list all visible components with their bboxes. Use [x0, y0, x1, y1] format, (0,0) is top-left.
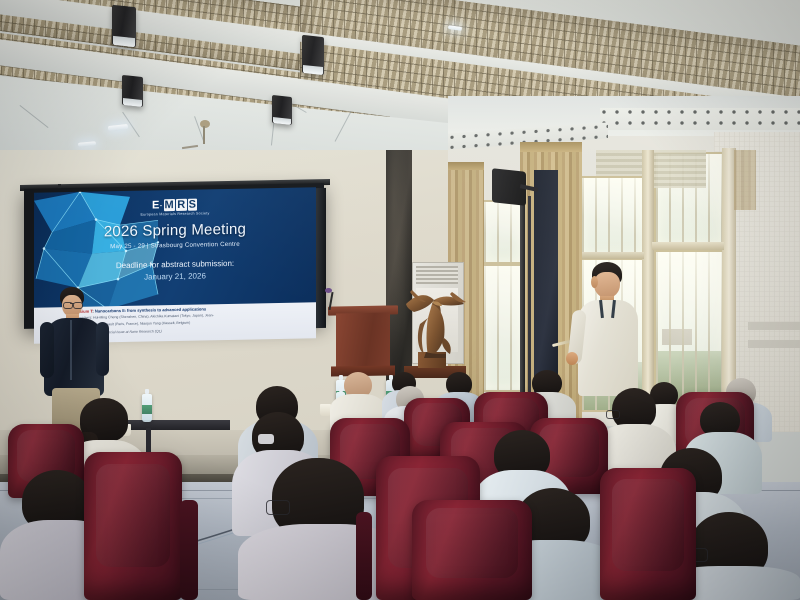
presenter-left-glasses-bridge [70, 303, 74, 304]
seat-armrest [180, 500, 198, 600]
downlight-1 [112, 5, 136, 48]
curtain-rod-left [448, 162, 484, 170]
sprinkler-pipe [203, 126, 205, 144]
presenter-right-face [594, 272, 620, 298]
presenter-left-shirt-placket [70, 320, 72, 380]
presenter-left-arm-right [96, 322, 109, 376]
downlight-4 [272, 95, 292, 125]
presenter-left-glasses [73, 302, 83, 309]
window-far-left [482, 200, 524, 264]
microphone-head [325, 288, 332, 293]
journal-line: Special issue at Nano Research (Q1) [104, 329, 162, 334]
window-far-left-lower [482, 264, 524, 392]
window-mullion-1 [642, 150, 654, 412]
organizers-line-1: Organizers: Hui-Ming Cheng (Shenzhen, Ch… [74, 313, 214, 320]
presenter-left-arm-left [40, 322, 54, 378]
audience-glasses [266, 500, 290, 515]
audience-glasses [606, 410, 620, 419]
presenter-right-shirt [578, 300, 638, 396]
presenter-table [120, 420, 230, 430]
window-glare [484, 202, 522, 262]
sprinkler-head [200, 120, 210, 128]
water-bottle [142, 394, 152, 422]
seat [600, 468, 696, 600]
window-transom-2 [578, 252, 644, 259]
window-glare [582, 178, 644, 256]
curtain-rod-center [520, 142, 582, 152]
presenter-right-ear [591, 276, 598, 288]
lectern-body [336, 313, 390, 374]
curtain-right-sliver [734, 150, 756, 210]
downlight-2 [302, 35, 324, 75]
bronze-eagle-sculpture [392, 282, 476, 358]
equipment-pole-secondary [528, 196, 531, 396]
conference-hall-photo: E·MRS European Materials Research Societ… [0, 0, 800, 600]
seat [412, 500, 532, 600]
equipment-pole [520, 196, 525, 406]
wall-trim-2 [748, 340, 800, 348]
presenter-right-hand [566, 352, 578, 365]
window-transom-1 [652, 242, 724, 250]
dark-curtain-panel [534, 170, 558, 400]
window-upper-mid [580, 176, 646, 258]
wall-trim-1 [748, 322, 800, 330]
perforated-soffit-panel [600, 108, 800, 130]
downlight-3 [122, 75, 143, 107]
symposium-title: Nanocarbons II: from synthesis to advanc… [95, 306, 206, 313]
seat [84, 452, 182, 600]
window-glare [484, 266, 522, 390]
seat-armrest [356, 512, 372, 600]
face-mask [258, 434, 274, 444]
screen-right-bezel [316, 188, 326, 328]
